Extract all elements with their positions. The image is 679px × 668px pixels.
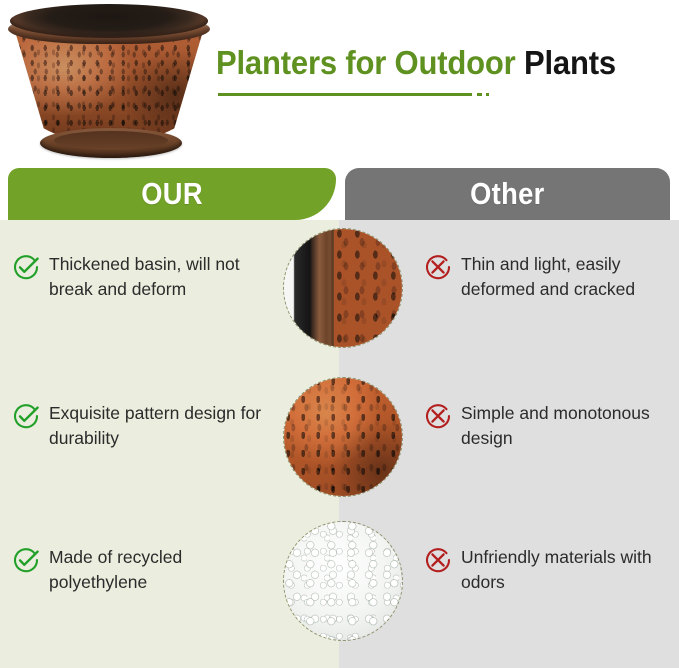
title-underline-dash-1 <box>477 93 482 96</box>
title-secondary <box>516 44 524 81</box>
infographic-page: Planters for Outdoor Plants OUR Other Th… <box>0 0 679 668</box>
title-accent: Plants <box>524 44 616 81</box>
hero-planter-image <box>2 2 218 162</box>
pot-rim-opening <box>10 4 208 38</box>
page-title: Planters for Outdoor Plants <box>216 44 676 82</box>
our-column-label: OUR <box>141 176 203 212</box>
title-primary: Planters for Outdoor <box>216 44 516 81</box>
detail-photo-surface-pattern-image <box>284 378 402 496</box>
check-circle-icon <box>12 546 40 574</box>
our-column-header: OUR <box>8 168 336 220</box>
detail-photo-polyethylene-pellets-image <box>284 522 402 640</box>
cross-circle-icon <box>424 253 452 281</box>
title-underline <box>218 93 472 96</box>
our-feature-1: Thickened basin, will not break and defo… <box>12 252 270 302</box>
cross-circle-icon <box>424 546 452 574</box>
detail-photo-surface-pattern <box>283 377 403 497</box>
other-feature-2: Simple and monotonous design <box>424 401 676 451</box>
detail-photo-rim-thickness-image <box>284 229 402 347</box>
our-feature-2: Exquisite pattern design for durability <box>12 401 270 451</box>
our-feature-3: Made of recycled polyethylene <box>12 545 270 595</box>
header-section: Planters for Outdoor Plants <box>0 0 679 168</box>
title-underline-dash-2 <box>486 93 489 96</box>
other-feature-3: Unfriendly materials with odors <box>424 545 676 595</box>
other-feature-text: Unfriendly materials with odors <box>461 545 676 595</box>
our-feature-text: Thickened basin, will not break and defo… <box>49 252 270 302</box>
detail-photo-polyethylene-pellets <box>283 521 403 641</box>
other-feature-1: Thin and light, easily deformed and crac… <box>424 252 676 302</box>
other-feature-text: Thin and light, easily deformed and crac… <box>461 252 676 302</box>
pot-saucer-inner <box>54 131 168 150</box>
cross-circle-icon <box>424 402 452 430</box>
pot-texture-overlay <box>16 30 202 142</box>
our-feature-text: Exquisite pattern design for durability <box>49 401 270 451</box>
check-circle-icon <box>12 402 40 430</box>
other-column-label: Other <box>470 176 545 212</box>
detail-photo-rim-thickness <box>283 228 403 348</box>
our-feature-text: Made of recycled polyethylene <box>49 545 270 595</box>
other-column-header: Other <box>345 168 670 220</box>
check-circle-icon <box>12 253 40 281</box>
other-feature-text: Simple and monotonous design <box>461 401 676 451</box>
